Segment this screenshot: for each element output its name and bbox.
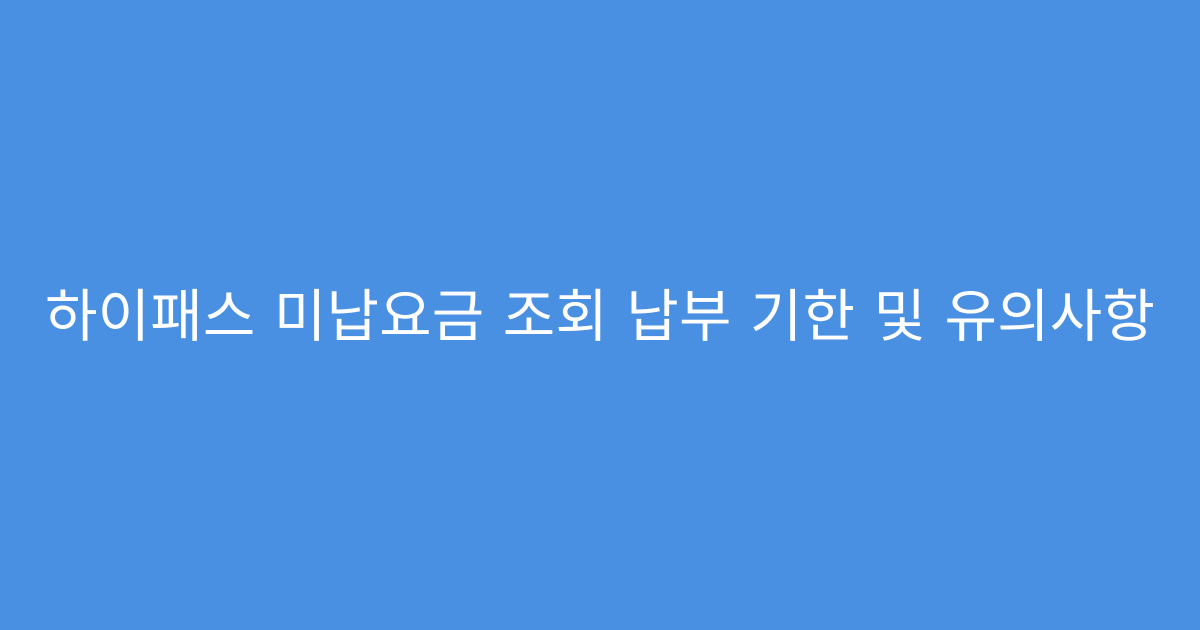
card-headline: 하이패스 미납요금 조회 납부 기한 및 유의사항	[0, 282, 1200, 353]
headline-container: 하이패스 미납요금 조회 납부 기한 및 유의사항	[0, 0, 1200, 630]
share-card: 하이패스 미납요금 조회 납부 기한 및 유의사항	[0, 0, 1200, 630]
